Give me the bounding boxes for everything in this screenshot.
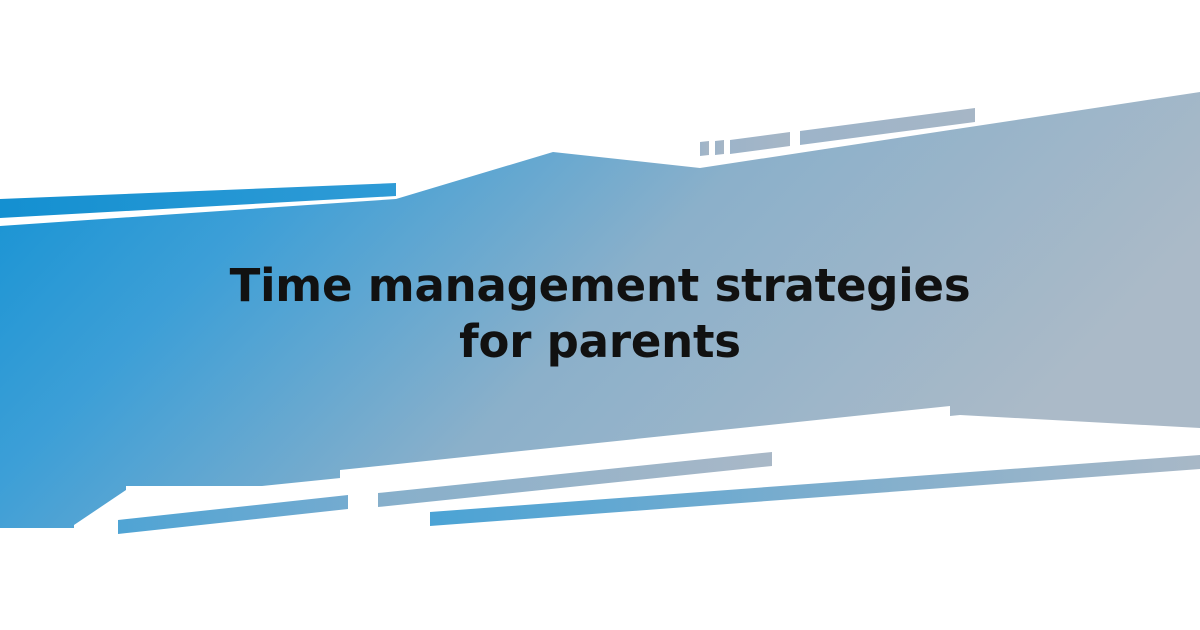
dash-mark-2 bbox=[715, 140, 724, 155]
banner-card: Time management strategies for parents bbox=[0, 0, 1200, 630]
bottom-lower-blue-stripe bbox=[430, 455, 1200, 526]
dash-mark-3 bbox=[730, 132, 790, 154]
dash-mark-1 bbox=[700, 141, 709, 156]
bottom-left-blue-dash bbox=[118, 495, 348, 534]
left-bottom-notch bbox=[0, 528, 74, 540]
main-diagonal-band bbox=[0, 92, 1200, 528]
decorative-background-artwork bbox=[0, 0, 1200, 630]
